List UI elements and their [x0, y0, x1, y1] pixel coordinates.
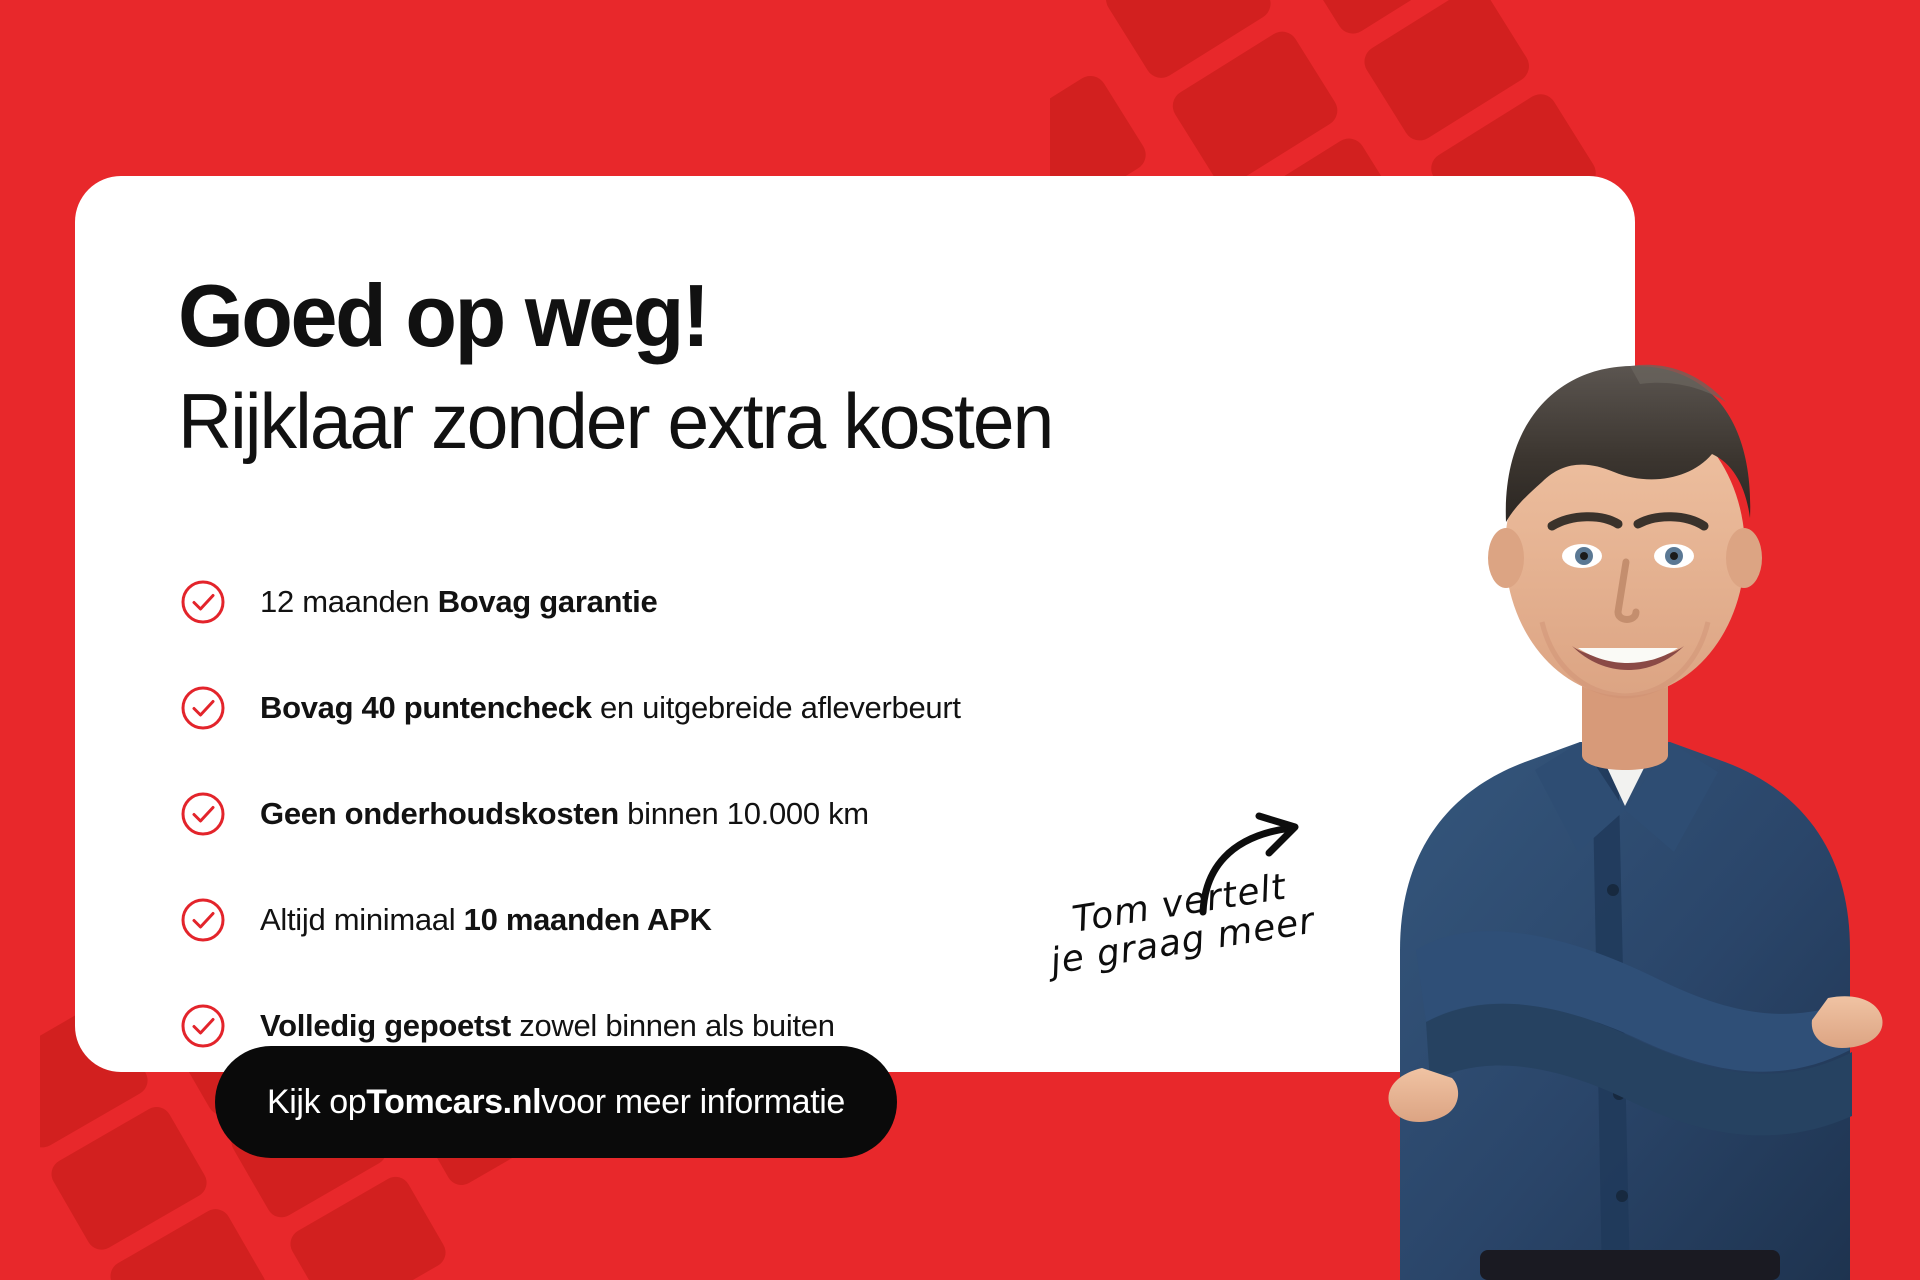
text-run-0: Geen onderhoudskosten — [260, 796, 619, 831]
person-photo — [1330, 250, 1920, 1280]
check-circle-icon — [180, 791, 226, 837]
feature-item: Bovag 40 puntencheck en uitgebreide afle… — [180, 672, 1180, 744]
text-run-1: binnen 10.000 km — [619, 796, 869, 831]
check-circle-icon — [180, 579, 226, 625]
text-run-1: zowel binnen als buiten — [511, 1008, 835, 1043]
page-subtitle: Rijklaar zonder extra kosten — [178, 382, 1052, 460]
text-run-0: Bovag 40 puntencheck — [260, 690, 592, 725]
curved-arrow-up-right-icon — [1195, 812, 1315, 927]
feature-item-label: Geen onderhoudskosten binnen 10.000 km — [260, 797, 869, 831]
feature-item: Altijd minimaal 10 maanden APK — [180, 884, 1180, 956]
feature-item-label: Bovag 40 puntencheck en uitgebreide afle… — [260, 691, 961, 725]
banner-stage: Goed op weg! Rijklaar zonder extra koste… — [0, 0, 1920, 1280]
text-run-0: Altijd minimaal — [260, 902, 464, 937]
check-circle-icon — [180, 1003, 226, 1049]
text-run-0: Volledig gepoetst — [260, 1008, 511, 1043]
feature-item-label: Altijd minimaal 10 maanden APK — [260, 903, 712, 937]
feature-list: 12 maanden Bovag garantieBovag 40 punten… — [180, 566, 1180, 1096]
text-run-1: Tomcars.nl — [366, 1083, 541, 1122]
check-circle-icon — [180, 897, 226, 943]
text-run-1: 10 maanden APK — [464, 902, 712, 937]
page-title: Goed op weg! — [178, 272, 708, 360]
text-run-1: Bovag garantie — [438, 584, 658, 619]
text-run-0: 12 maanden — [260, 584, 438, 619]
text-run-2: voor meer informatie — [541, 1083, 845, 1122]
feature-item: 12 maanden Bovag garantie — [180, 566, 1180, 638]
check-circle-icon — [180, 685, 226, 731]
feature-item: Geen onderhoudskosten binnen 10.000 km — [180, 778, 1180, 850]
more-info-cta-button[interactable]: Kijk op Tomcars.nl voor meer informatie — [215, 1046, 897, 1158]
feature-item-label: 12 maanden Bovag garantie — [260, 585, 657, 619]
feature-item-label: Volledig gepoetst zowel binnen als buite… — [260, 1009, 835, 1043]
text-run-0: Kijk op — [267, 1083, 366, 1122]
text-run-1: en uitgebreide afleverbeurt — [592, 690, 961, 725]
